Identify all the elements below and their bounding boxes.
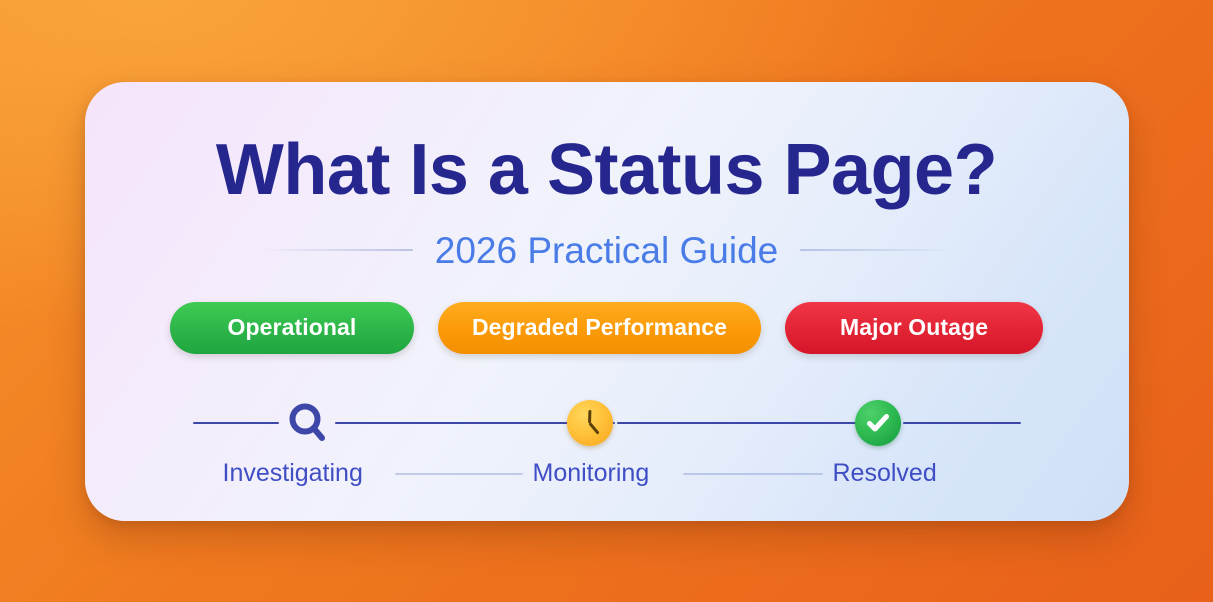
- timeline-label-rule: [395, 473, 523, 475]
- timeline-line-segment: [193, 422, 279, 424]
- status-pill-operational[interactable]: Operational: [170, 302, 414, 354]
- subtitle-row: 2026 Practical Guide: [85, 232, 1129, 269]
- timeline-node-monitoring[interactable]: [559, 392, 621, 454]
- clock-icon: [567, 400, 613, 446]
- check-circle-icon: [855, 400, 901, 446]
- timeline-label-row: Investigating Monitoring Resolved: [193, 456, 1021, 490]
- clock-hour-hand: [588, 409, 591, 422]
- subtitle-rule-left: [265, 249, 413, 251]
- timeline-label-investigating: Investigating: [223, 456, 363, 490]
- magnifier-icon: [285, 400, 331, 446]
- status-pill-group: Operational Degraded Performance Major O…: [170, 302, 1043, 354]
- timeline-node-resolved[interactable]: [847, 392, 909, 454]
- clock-minute-hand: [588, 422, 599, 435]
- subtitle-rule-right: [800, 249, 948, 251]
- page-subtitle: 2026 Practical Guide: [435, 232, 778, 269]
- status-pill-degraded-performance[interactable]: Degraded Performance: [438, 302, 761, 354]
- page-title: What Is a Status Page?: [216, 134, 997, 206]
- status-page-card: What Is a Status Page? 2026 Practical Gu…: [85, 82, 1129, 521]
- timeline-node-investigating[interactable]: [277, 392, 339, 454]
- checkmark-icon: [864, 409, 892, 437]
- timeline-line-segment: [903, 422, 1021, 424]
- timeline-label-monitoring: Monitoring: [533, 456, 650, 490]
- timeline-label-rule: [683, 473, 823, 475]
- incident-timeline: Investigating Monitoring Resolved: [85, 392, 1129, 490]
- timeline-track: [193, 392, 1021, 454]
- timeline-line-segment: [617, 422, 857, 424]
- status-pill-major-outage[interactable]: Major Outage: [785, 302, 1043, 354]
- timeline-label-resolved: Resolved: [833, 456, 937, 490]
